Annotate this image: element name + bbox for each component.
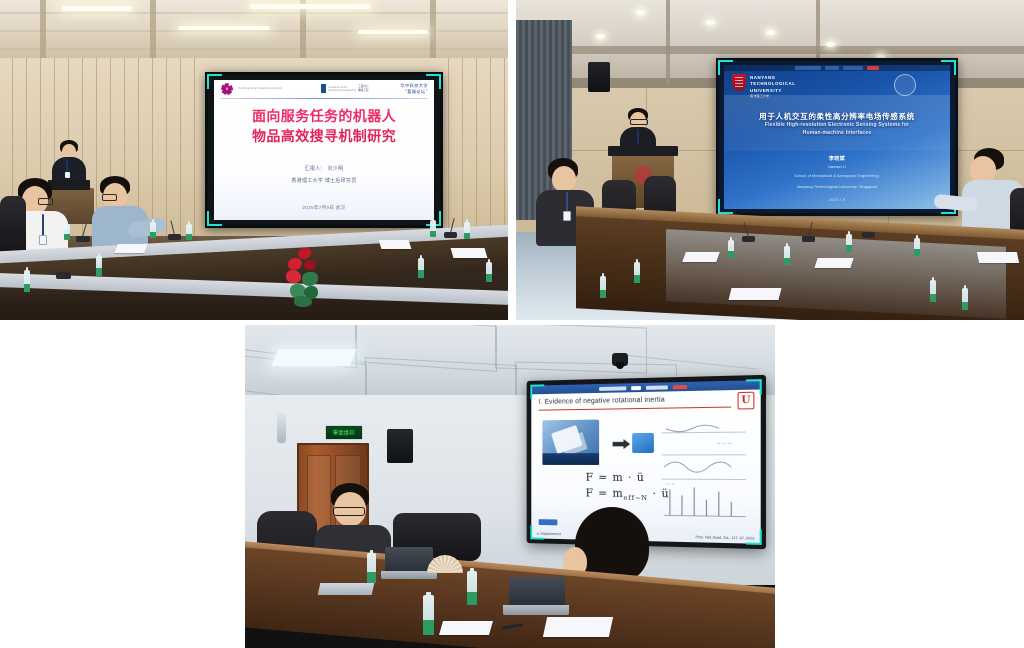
equation-1: F = m · ü bbox=[586, 471, 645, 484]
corner-marker-icon bbox=[207, 74, 222, 89]
document bbox=[814, 258, 853, 268]
slide-subtitle: 汇报人： 刘少明 香港理工大学 博士后研究员 bbox=[214, 164, 434, 187]
exit-sign-text: 安全出口 bbox=[333, 430, 355, 436]
slide-header: The Hong Kong Polytechnic University Ind… bbox=[214, 80, 434, 97]
equation-2-sub: eff~N bbox=[624, 494, 648, 502]
polyu-logo-text: The Hong Kong Polytechnic University bbox=[238, 87, 282, 90]
slide-title-cn: 用于人机交互的柔性高分辨率电场传感系统 bbox=[724, 111, 950, 122]
water-bottle bbox=[24, 270, 30, 292]
ceiling-light bbox=[250, 4, 370, 9]
water-bottle bbox=[96, 256, 102, 276]
glasses-icon bbox=[38, 198, 53, 205]
office-chair bbox=[0, 196, 26, 258]
document bbox=[379, 240, 412, 249]
water-bottle bbox=[186, 224, 192, 240]
water-bottle bbox=[728, 240, 734, 258]
slide-title-en: Flexible High-resolution Electronic Sens… bbox=[724, 122, 950, 137]
equation-2-main: F = m bbox=[586, 487, 624, 500]
ceiling-panel-light bbox=[272, 349, 357, 366]
ntu-crest-icon bbox=[732, 74, 746, 91]
projection-screen: The Hong Kong Polytechnic University Ind… bbox=[205, 72, 443, 228]
university-seal-icon bbox=[894, 74, 916, 96]
ceiling-light bbox=[178, 26, 270, 30]
ceiling-downlight bbox=[596, 34, 605, 39]
water-bottle bbox=[600, 276, 606, 298]
corner-marker-icon bbox=[941, 60, 956, 75]
presentation-toolbar[interactable] bbox=[531, 380, 760, 394]
corner-marker-icon bbox=[718, 199, 733, 214]
presentation-slide: The Hong Kong Polytechnic University Ind… bbox=[214, 80, 434, 220]
speaker-name-cn: 李晓斌 bbox=[724, 155, 950, 162]
slide-affiliation: 香港理工大学 博士后研究员 bbox=[214, 176, 434, 188]
presentation-display: NANYANG TECHNOLOGICAL UNIVERSITY 南洋理工大学 … bbox=[716, 58, 958, 216]
slide-heading-rule bbox=[539, 407, 732, 412]
speaker-name-en: Jianwei Li bbox=[724, 165, 950, 169]
lectern-top bbox=[608, 146, 678, 156]
speaker-affiliation-line2: Nanyang Technological University, Singap… bbox=[724, 184, 950, 191]
dept-logo-text-en: Industrial Centre Mechanical Engineering bbox=[328, 86, 356, 92]
document bbox=[682, 252, 720, 262]
slide-title-line1: 面向服务任务的机器人 bbox=[214, 108, 434, 128]
slide-plots: — — — — — bbox=[656, 413, 754, 525]
slide-date: 2025年7月9日 武汉 bbox=[214, 205, 434, 211]
water-bottle bbox=[464, 222, 470, 239]
photo-panel-top-right: NANYANG TECHNOLOGICAL UNIVERSITY 南洋理工大学 … bbox=[516, 0, 1024, 320]
slide-title-line2: 物品高效搜寻机制研究 bbox=[214, 128, 434, 148]
laptop bbox=[503, 577, 569, 617]
water-bottle bbox=[367, 553, 376, 583]
microphone bbox=[862, 232, 875, 238]
ceiling-downlight bbox=[636, 10, 645, 15]
host-org-line1: 华中科技大学 bbox=[400, 83, 428, 89]
display-screen: U I. Evidence of negative rotational ine… bbox=[531, 380, 760, 544]
ceiling-downlight bbox=[826, 42, 835, 47]
slide-heading: I. Evidence of negative rotational inert… bbox=[539, 397, 665, 406]
slide-topbar bbox=[724, 65, 950, 71]
slide-title-en-line1: Flexible High-resolution Electronic Sens… bbox=[724, 122, 950, 130]
slide-title: 面向服务任务的机器人 物品高效搜寻机制研究 bbox=[214, 108, 434, 148]
exit-sign: 安全出口 bbox=[325, 425, 363, 440]
water-bottle bbox=[962, 288, 968, 310]
speaker-affiliation-line1: School of Mechanical & Aerospace Enginee… bbox=[724, 173, 950, 180]
svg-text:— — —: — — — bbox=[717, 440, 732, 445]
host-org-line2: “喜珈论坛” bbox=[400, 89, 428, 95]
university-line2: TECHNOLOGICAL bbox=[750, 81, 795, 87]
photo-panel-top-left: The Hong Kong Polytechnic University Ind… bbox=[0, 0, 508, 320]
corner-marker-icon bbox=[426, 74, 441, 89]
document bbox=[439, 621, 493, 635]
corner-marker-icon bbox=[530, 384, 544, 399]
water-bottle bbox=[486, 262, 492, 282]
name-plate bbox=[318, 583, 375, 595]
wall-light bbox=[277, 413, 286, 443]
document bbox=[729, 288, 782, 300]
corner-marker-icon bbox=[746, 529, 762, 545]
water-bottle bbox=[64, 224, 70, 240]
dept-logo-text-cn: 工業中心 機械工程 bbox=[358, 85, 368, 92]
slide-diagram-block bbox=[632, 433, 654, 453]
corner-marker-icon bbox=[530, 525, 544, 540]
corner-marker-icon bbox=[207, 211, 222, 226]
glasses-icon bbox=[630, 119, 648, 125]
photo-collage: The Hong Kong Polytechnic University Ind… bbox=[0, 0, 1024, 648]
glasses-icon bbox=[333, 507, 365, 516]
security-camera-icon bbox=[612, 353, 628, 366]
slide-date: 2025.7.9 bbox=[724, 198, 950, 202]
document bbox=[543, 617, 613, 637]
corner-marker-icon bbox=[746, 379, 762, 395]
wall-speaker bbox=[387, 429, 413, 463]
water-bottle bbox=[430, 220, 436, 237]
water-bottle bbox=[914, 238, 920, 256]
ceiling-light bbox=[62, 6, 132, 11]
water-bottle bbox=[930, 280, 936, 302]
flower-arrangement bbox=[284, 246, 326, 308]
water-bottle bbox=[150, 222, 156, 238]
ceiling-light bbox=[358, 30, 428, 34]
water-bottle bbox=[418, 258, 424, 278]
presentation-slide: NANYANG TECHNOLOGICAL UNIVERSITY 南洋理工大学 … bbox=[724, 65, 950, 209]
slide-speaker-block: 李晓斌 Jianwei Li School of Mechanical & Ae… bbox=[724, 155, 950, 202]
corner-marker-icon bbox=[718, 60, 733, 75]
water-bottle bbox=[634, 262, 640, 283]
arrow-icon bbox=[613, 439, 631, 449]
wall-speaker bbox=[588, 62, 610, 92]
svg-text:— —: — — bbox=[666, 481, 675, 486]
water-bottle bbox=[784, 246, 790, 265]
podium-laptop bbox=[48, 180, 90, 190]
slide-divider bbox=[220, 98, 428, 99]
ceiling-downlight bbox=[766, 30, 775, 35]
microphone bbox=[56, 272, 71, 279]
slide-figure-caption-bar bbox=[542, 453, 599, 465]
document bbox=[451, 248, 488, 258]
water-bottle bbox=[846, 234, 852, 252]
document bbox=[114, 244, 148, 253]
document bbox=[977, 252, 1019, 263]
glasses-icon bbox=[102, 194, 117, 201]
ceiling-downlight bbox=[706, 20, 715, 25]
smart-display: U I. Evidence of negative rotational ine… bbox=[527, 375, 766, 549]
slide-title-en-line2: Human-machine Interfaces bbox=[724, 130, 950, 138]
water-bottle bbox=[467, 571, 477, 605]
host-org: 华中科技大学 “喜珈论坛” bbox=[400, 83, 428, 95]
photo-panel-bottom: 安全出口 U I. Evidence of negative rotationa… bbox=[245, 325, 775, 648]
dept-logo: Industrial Centre Mechanical Engineering… bbox=[321, 84, 368, 93]
slide-presenter: 汇报人： 刘少明 bbox=[214, 164, 434, 176]
water-bottle bbox=[423, 595, 434, 635]
